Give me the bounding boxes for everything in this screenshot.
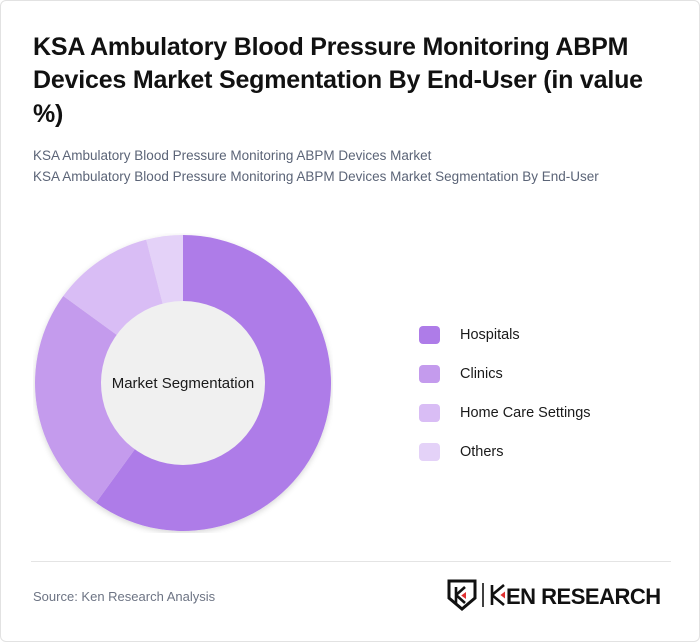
legend-swatch-icon — [419, 326, 440, 344]
breadcrumb-line-1: KSA Ambulatory Blood Pressure Monitoring… — [33, 146, 663, 167]
legend-swatch-icon — [419, 443, 440, 461]
legend-item[interactable]: Clinics — [419, 354, 669, 393]
legend-swatch-icon — [419, 365, 440, 383]
ken-research-logo: EN RESEARCH — [447, 578, 690, 612]
legend-label: Others — [460, 444, 504, 460]
shield-logo-icon — [447, 579, 477, 611]
page-title: KSA Ambulatory Blood Pressure Monitoring… — [33, 31, 651, 131]
footer-divider — [31, 561, 671, 562]
legend-label: Hospitals — [460, 327, 520, 343]
legend-item[interactable]: Home Care Settings — [419, 393, 669, 432]
donut-hole — [101, 301, 265, 465]
legend-label: Clinics — [460, 366, 503, 382]
legend-swatch-icon — [419, 404, 440, 422]
donut-chart: Market Segmentation — [33, 233, 333, 533]
legend-label: Home Care Settings — [460, 405, 591, 421]
breadcrumb-line-2: KSA Ambulatory Blood Pressure Monitoring… — [33, 167, 663, 188]
ken-research-wordmark: EN RESEARCH — [480, 582, 690, 608]
chart-card: KSA Ambulatory Blood Pressure Monitoring… — [0, 0, 700, 642]
chart-area: Market Segmentation HospitalsClinicsHome… — [1, 219, 700, 549]
chart-legend: HospitalsClinicsHome Care SettingsOthers — [419, 315, 669, 471]
source-note: Source: Ken Research Analysis — [33, 589, 215, 604]
legend-item[interactable]: Others — [419, 432, 669, 471]
breadcrumb: KSA Ambulatory Blood Pressure Monitoring… — [33, 146, 663, 188]
donut-svg — [33, 233, 333, 533]
legend-item[interactable]: Hospitals — [419, 315, 669, 354]
svg-text:EN RESEARCH: EN RESEARCH — [506, 584, 661, 608]
